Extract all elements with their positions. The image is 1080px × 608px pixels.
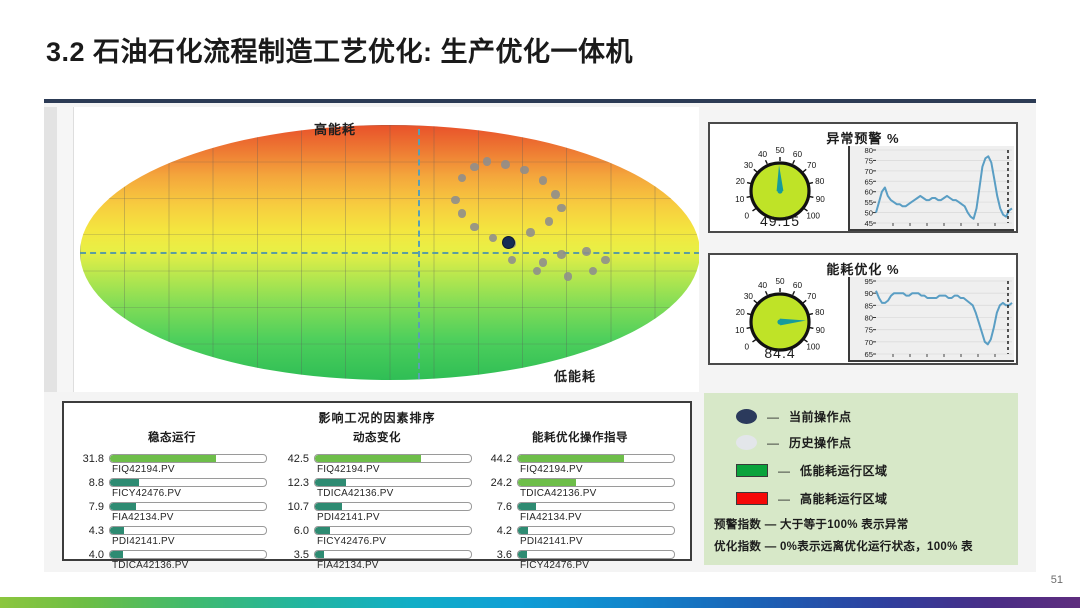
svg-text:75: 75	[865, 326, 873, 335]
ranking-bar-track	[517, 454, 675, 463]
svg-text:40: 40	[758, 281, 768, 290]
svg-text:30: 30	[744, 292, 754, 301]
ranking-bar-fill	[518, 479, 576, 486]
ranking-bar-track	[109, 478, 267, 487]
history-operating-point	[508, 256, 517, 265]
ranking-row: 31.8FIQ42194.PV	[74, 453, 270, 477]
ranking-row: 4.0TDICA42136.PV	[74, 549, 270, 573]
ranking-column-dynamic-change: 动态变化 42.5FIQ42194.PV12.3TDICA42136.PV10.…	[279, 429, 475, 573]
svg-text:90: 90	[816, 326, 826, 335]
ranking-tag-label: PDI42141.PV	[520, 536, 583, 547]
ranking-value: 12.3	[279, 477, 309, 489]
ranking-row: 6.0FICY42476.PV	[279, 525, 475, 549]
content-board: 高能耗 低能耗 异常预警 % 0102030405060708090100 49…	[44, 99, 1036, 572]
ranking-bar-track	[109, 550, 267, 559]
energy-optimization-card: 能耗优化 % 0102030405060708090100 84.4 65707…	[708, 253, 1018, 365]
svg-text:45: 45	[865, 219, 873, 228]
ranking-row: 7.6FIA42134.PV	[482, 501, 678, 525]
ranking-tag-label: FIQ42194.PV	[112, 464, 175, 475]
svg-text:90: 90	[865, 289, 873, 298]
history-operating-point	[582, 247, 591, 256]
svg-text:65: 65	[865, 350, 873, 359]
ranking-tag-label: FICY42476.PV	[520, 560, 589, 571]
ranking-bar-fill	[315, 479, 346, 486]
vertical-reference-line	[418, 129, 420, 379]
ranking-rows: 42.5FIQ42194.PV12.3TDICA42136.PV10.7PDI4…	[279, 453, 475, 573]
optimization-index-note: 优化指数 — 0%表示远离优化运行状态，100% 表	[714, 538, 973, 554]
low-energy-zone-swatch	[736, 464, 768, 477]
svg-text:50: 50	[865, 209, 873, 218]
history-operating-point	[470, 223, 479, 232]
svg-text:80: 80	[815, 308, 825, 317]
history-operating-point	[451, 196, 460, 205]
svg-text:20: 20	[736, 177, 746, 186]
svg-text:30: 30	[744, 161, 754, 170]
ranking-value: 3.6	[482, 549, 512, 561]
ranking-bar-fill	[110, 551, 123, 558]
ranking-row: 3.6FICY42476.PV	[482, 549, 678, 573]
svg-text:55: 55	[865, 198, 873, 207]
ranking-bar-fill	[315, 527, 330, 534]
legend-item-low-energy-zone: — 低能耗运行区域	[736, 462, 888, 479]
ranking-row: 3.5FIA42134.PV	[279, 549, 475, 573]
history-operating-point	[539, 258, 548, 267]
ranking-tag-label: PDI42141.PV	[112, 536, 175, 547]
ranking-bar-track	[517, 502, 675, 511]
ranking-bar-track	[517, 478, 675, 487]
ranking-row: 4.3PDI42141.PV	[74, 525, 270, 549]
abnormal-warning-trend-chart: 4550556065707580	[848, 146, 1014, 231]
history-operating-point	[533, 267, 542, 276]
ranking-tag-label: FIA42134.PV	[520, 512, 582, 523]
svg-text:50: 50	[775, 277, 785, 286]
low-energy-label: 低能耗	[554, 366, 596, 385]
horizontal-reference-line	[80, 252, 699, 254]
svg-text:95: 95	[865, 277, 873, 286]
ranking-column-steady-state: 稳态运行 31.8FIQ42194.PV8.8FICY42476.PV7.9FI…	[74, 429, 270, 573]
ranking-bar-track	[314, 502, 472, 511]
svg-text:40: 40	[758, 150, 768, 159]
legend-label: 低能耗运行区域	[800, 462, 888, 479]
history-operating-point	[601, 256, 610, 265]
legend-dash: —	[778, 464, 790, 478]
svg-text:80: 80	[815, 177, 825, 186]
ranking-bar-fill	[315, 455, 421, 462]
ranking-column-title: 动态变化	[279, 429, 475, 445]
panel-left-strip	[44, 107, 57, 392]
factor-ranking-title: 影响工况的因素排序	[64, 409, 690, 426]
legend-dash: —	[778, 492, 790, 506]
ranking-bar-fill	[110, 503, 136, 510]
ranking-bar-track	[517, 526, 675, 535]
page-title: 3.2 石油石化流程制造工艺优化: 生产优化一体机	[46, 30, 633, 69]
ranking-row: 4.2PDI42141.PV	[482, 525, 678, 549]
svg-text:10: 10	[735, 195, 745, 204]
svg-text:70: 70	[807, 161, 817, 170]
svg-text:80: 80	[865, 146, 873, 155]
ranking-bar-track	[109, 454, 267, 463]
svg-text:65: 65	[865, 177, 873, 186]
history-operating-point	[551, 190, 560, 199]
ranking-value: 6.0	[279, 525, 309, 537]
warning-index-note: 预警指数 — 大于等于100% 表示异常	[714, 516, 909, 532]
ranking-row: 7.9FIA42134.PV	[74, 501, 270, 525]
ranking-tag-label: FIA42134.PV	[112, 512, 174, 523]
svg-text:70: 70	[807, 292, 817, 301]
page-number: 51	[1051, 574, 1063, 586]
ranking-tag-label: TDICA42136.PV	[112, 560, 189, 571]
abnormal-warning-value: 49.15	[718, 213, 842, 229]
ranking-row: 42.5FIQ42194.PV	[279, 453, 475, 477]
ranking-bar-fill	[518, 503, 536, 510]
history-operating-point	[520, 166, 529, 175]
legend-dash: —	[767, 436, 779, 450]
legend-item-current-point: — 当前操作点	[736, 408, 852, 425]
ranking-tag-label: FIA42134.PV	[317, 560, 379, 571]
history-operating-point	[458, 209, 467, 218]
ranking-rows: 44.2FIQ42194.PV24.2TDICA42136.PV7.6FIA42…	[482, 453, 678, 573]
svg-text:75: 75	[865, 156, 873, 165]
history-operating-point	[564, 272, 573, 281]
history-operating-point	[483, 157, 492, 166]
legend-label: 历史操作点	[789, 434, 852, 451]
svg-text:50: 50	[775, 146, 785, 155]
abnormal-warning-card: 异常预警 % 0102030405060708090100 49.15 4550…	[708, 122, 1018, 233]
ranking-value: 42.5	[279, 453, 309, 465]
ranking-value: 3.5	[279, 549, 309, 561]
ranking-tag-label: FIQ42194.PV	[317, 464, 380, 475]
history-operating-point	[557, 250, 566, 259]
ranking-row: 10.7PDI42141.PV	[279, 501, 475, 525]
ranking-bar-track	[314, 550, 472, 559]
ranking-value: 24.2	[482, 477, 512, 489]
history-operating-point	[539, 176, 548, 185]
history-operating-point	[470, 163, 479, 172]
ranking-value: 4.3	[74, 525, 104, 537]
ranking-bar-fill	[315, 503, 342, 510]
svg-text:60: 60	[793, 281, 803, 290]
ranking-bar-fill	[518, 551, 527, 558]
ranking-bar-track	[314, 526, 472, 535]
ranking-column-title: 能耗优化操作指导	[482, 429, 678, 445]
ranking-column-title: 稳态运行	[74, 429, 270, 445]
legend-item-high-energy-zone: — 高能耗运行区域	[736, 490, 888, 507]
ranking-rows: 31.8FIQ42194.PV8.8FICY42476.PV7.9FIA4213…	[74, 453, 270, 573]
history-point-icon	[736, 435, 757, 450]
svg-text:80: 80	[865, 314, 873, 323]
ranking-bar-track	[517, 550, 675, 559]
ranking-tag-label: FICY42476.PV	[317, 536, 386, 547]
current-operating-point	[503, 237, 514, 248]
ranking-bar-fill	[110, 479, 139, 486]
ranking-bar-track	[109, 526, 267, 535]
ranking-row: 24.2TDICA42136.PV	[482, 477, 678, 501]
legend-dash: —	[767, 410, 779, 424]
svg-text:85: 85	[865, 301, 873, 310]
ranking-row: 44.2FIQ42194.PV	[482, 453, 678, 477]
current-point-icon	[736, 409, 757, 424]
factor-ranking-panel: 影响工况的因素排序 稳态运行 31.8FIQ42194.PV8.8FICY424…	[62, 401, 692, 561]
ranking-value: 44.2	[482, 453, 512, 465]
ranking-row: 12.3TDICA42136.PV	[279, 477, 475, 501]
ranking-tag-label: PDI42141.PV	[317, 512, 380, 523]
ranking-row: 8.8FICY42476.PV	[74, 477, 270, 501]
svg-text:70: 70	[865, 167, 873, 176]
ranking-bar-fill	[110, 455, 216, 462]
svg-text:70: 70	[865, 338, 873, 347]
footer-color-bar	[0, 597, 1080, 608]
ranking-value: 10.7	[279, 501, 309, 513]
history-operating-point	[526, 228, 535, 237]
ranking-bar-track	[314, 454, 472, 463]
svg-text:60: 60	[865, 188, 873, 197]
ranking-value: 31.8	[74, 453, 104, 465]
svg-text:10: 10	[735, 326, 745, 335]
ranking-bar-fill	[315, 551, 324, 558]
legend-item-history-point: — 历史操作点	[736, 434, 852, 451]
ranking-value: 7.6	[482, 501, 512, 513]
ranking-tag-label: FICY42476.PV	[112, 488, 181, 499]
ranking-value: 7.9	[74, 501, 104, 513]
operating-map-stage: 高能耗 低能耗	[75, 107, 699, 392]
legend-clip: — 当前操作点 — 历史操作点 — 低能耗运行区域 — 高能耗运行区域 预警指数…	[704, 393, 1018, 565]
ranking-column-energy-guidance: 能耗优化操作指导 44.2FIQ42194.PV24.2TDICA42136.P…	[482, 429, 678, 573]
svg-text:20: 20	[736, 308, 746, 317]
svg-text:60: 60	[793, 150, 803, 159]
legend-panel: — 当前操作点 — 历史操作点 — 低能耗运行区域 — 高能耗运行区域 预警指数…	[704, 393, 1018, 565]
legend-label: 当前操作点	[789, 408, 852, 425]
ranking-bar-fill	[518, 455, 624, 462]
ranking-bar-fill	[518, 527, 528, 534]
ranking-value: 4.0	[74, 549, 104, 561]
panel-left-gutter	[57, 107, 74, 392]
ranking-tag-label: FIQ42194.PV	[520, 464, 583, 475]
ranking-value: 4.2	[482, 525, 512, 537]
legend-label: 高能耗运行区域	[800, 490, 888, 507]
high-energy-label: 高能耗	[314, 119, 356, 138]
ranking-bar-fill	[110, 527, 124, 534]
ranking-bar-track	[314, 478, 472, 487]
ranking-tag-label: TDICA42136.PV	[520, 488, 597, 499]
operating-map-panel: 高能耗 低能耗	[44, 107, 699, 392]
svg-text:90: 90	[816, 195, 826, 204]
ranking-bar-track	[109, 502, 267, 511]
history-operating-point	[589, 267, 598, 276]
energy-optimization-value: 84.4	[718, 345, 842, 361]
history-operating-point	[501, 160, 510, 169]
high-energy-zone-swatch	[736, 492, 768, 505]
ranking-value: 8.8	[74, 477, 104, 489]
energy-optimization-trend-chart: 65707580859095	[848, 277, 1014, 362]
ranking-tag-label: TDICA42136.PV	[317, 488, 394, 499]
